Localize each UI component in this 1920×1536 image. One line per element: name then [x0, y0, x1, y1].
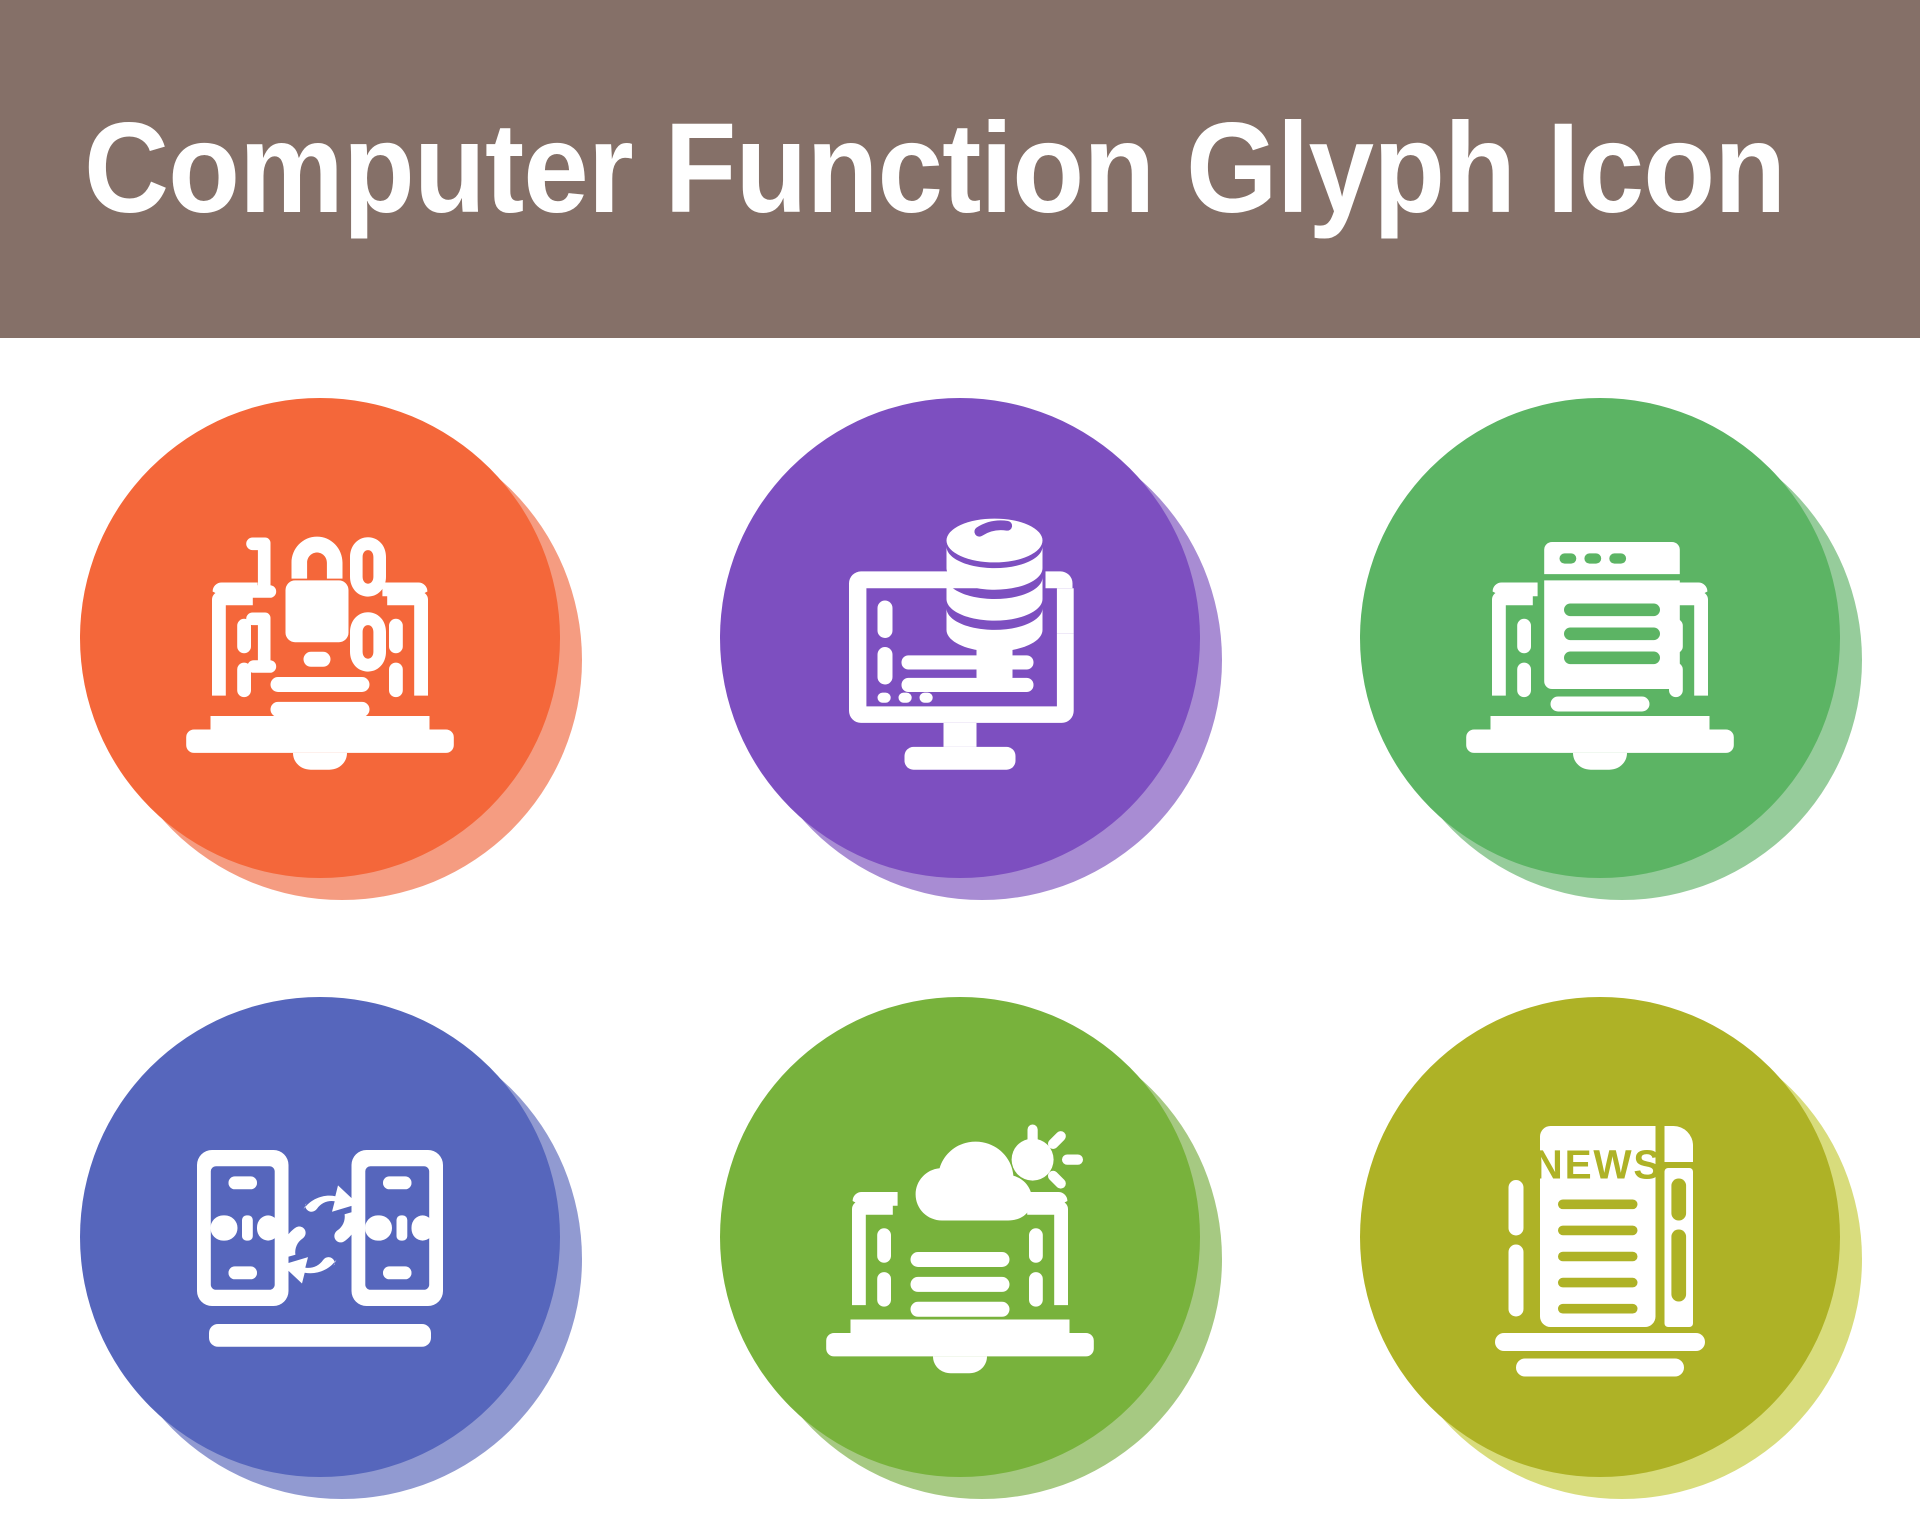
icon-set-page: Computer Function Glyph Icon: [0, 0, 1920, 1536]
phone-sync-icon: [80, 997, 560, 1477]
database-monitor-icon: [720, 398, 1200, 878]
icon-cell-news: NEWS: [1280, 937, 1920, 1536]
news-heading-text: NEWS: [1534, 1141, 1663, 1187]
icon-cell-data-security: [0, 338, 640, 937]
header-banner: Computer Function Glyph Icon: [0, 0, 1920, 338]
icon-cell-device-sync: [0, 937, 640, 1536]
web-page-laptop-icon: [1360, 398, 1840, 878]
news-document-icon: NEWS: [1360, 997, 1840, 1477]
icon-grid: NEWS: [0, 338, 1920, 1536]
page-title: Computer Function Glyph Icon: [84, 105, 1785, 233]
data-security-laptop-icon: [80, 398, 560, 878]
icon-badge-device-sync[interactable]: [80, 997, 560, 1477]
icon-cell-web-browser: [1280, 338, 1920, 937]
icon-badge-web-browser[interactable]: [1360, 398, 1840, 878]
icon-badge-data-security[interactable]: [80, 398, 560, 878]
icon-badge-database-server[interactable]: [720, 398, 1200, 878]
icon-badge-cloud-weather[interactable]: [720, 997, 1200, 1477]
icon-badge-news[interactable]: NEWS: [1360, 997, 1840, 1477]
icon-cell-database-server: [640, 338, 1280, 937]
cloud-weather-laptop-icon: [720, 997, 1200, 1477]
icon-cell-cloud-weather: [640, 937, 1280, 1536]
